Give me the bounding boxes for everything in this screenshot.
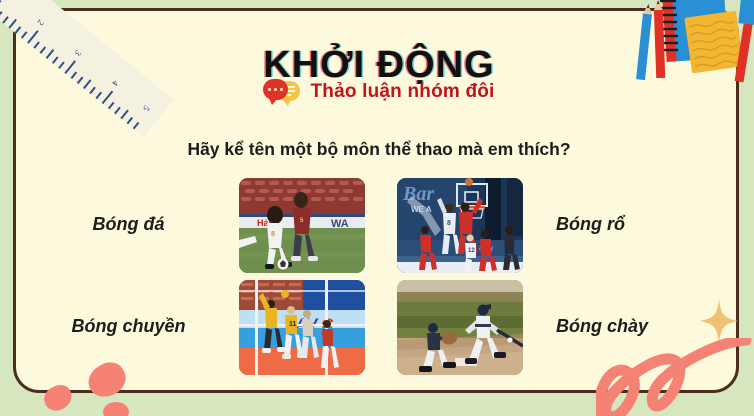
discussion-label: Thảo luận nhóm đôi [310, 81, 494, 103]
svg-text:12: 12 [468, 248, 475, 254]
svg-text:8: 8 [447, 220, 451, 227]
svg-text:11: 11 [289, 321, 297, 328]
sport-label-basketball: Bóng rổ [536, 214, 736, 235]
baseball-photo[interactable] [397, 280, 523, 375]
coral-blob-tiny [103, 402, 129, 416]
ruler-mark-3: 3 [73, 48, 84, 58]
squiggle-line-icon [596, 338, 754, 416]
basketball-photo[interactable]: Bar WE A alley [397, 178, 523, 273]
ruler-mark-5: 5 [141, 103, 152, 113]
svg-text:8: 8 [271, 231, 275, 238]
lined-notepad-icon [684, 11, 743, 74]
basketball-photo-graphic: Bar WE A alley [397, 178, 523, 273]
four-point-star-icon [700, 299, 738, 343]
soccer-photo-graphic: Hảo WA 8 [239, 178, 365, 273]
slide-canvas: KHỞI ĐỘNG Thảo luận nhóm đôi Hãy kể tên … [0, 0, 754, 416]
school-supplies-group [634, 0, 754, 102]
ruler-mark-4: 4 [110, 78, 121, 88]
sport-label-soccer: Bóng đá [26, 214, 231, 235]
question-text: Hãy kể tên một bộ môn thể thao mà em thí… [16, 139, 742, 160]
speech-bubbles-icon [263, 79, 301, 105]
ruler-mark-2: 2 [36, 18, 47, 28]
volleyball-photo-graphic: AV C [239, 280, 365, 375]
sport-label-volleyball: Bóng chuyền [26, 316, 231, 337]
soccer-photo[interactable]: Hảo WA 8 [239, 178, 365, 273]
volleyball-photo[interactable]: AV C [239, 280, 365, 375]
baseball-photo-graphic [397, 280, 523, 375]
